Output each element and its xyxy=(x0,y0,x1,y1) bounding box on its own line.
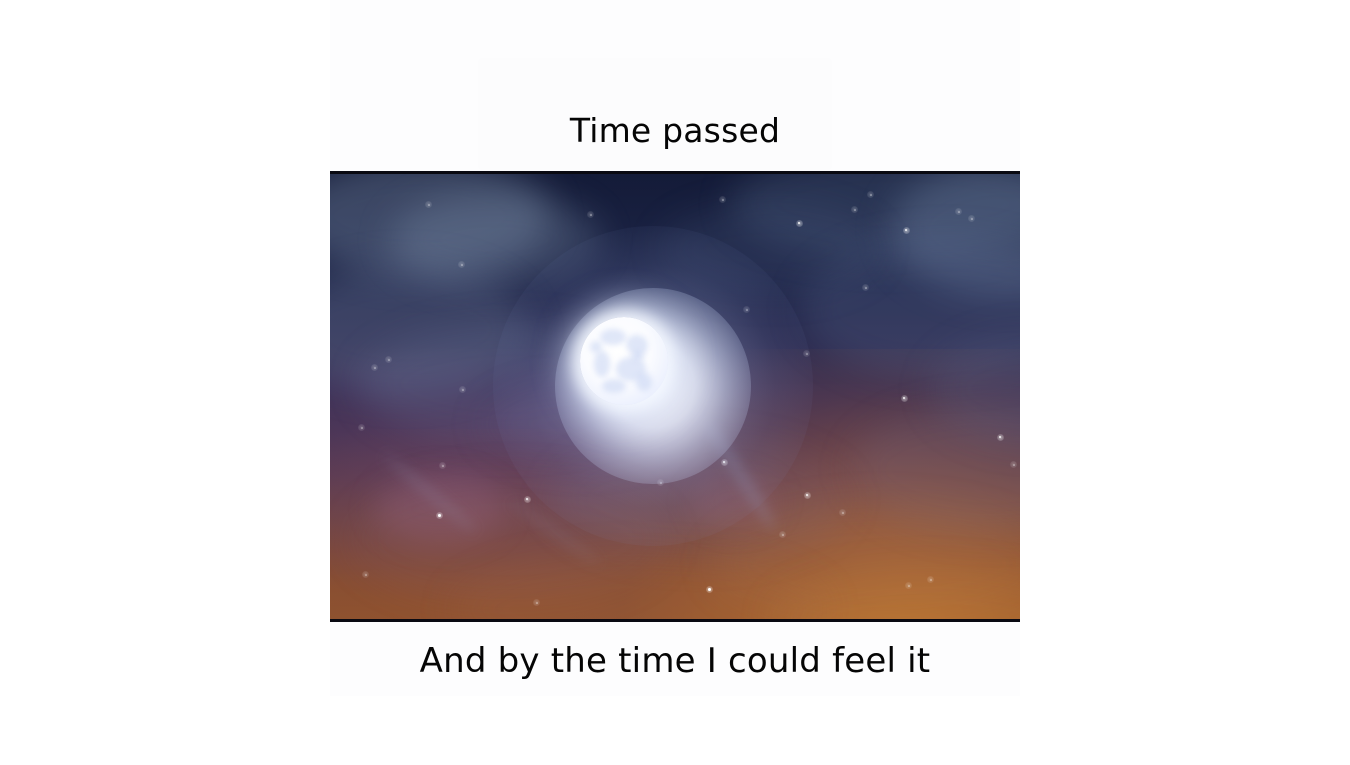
caption-bottom: And by the time I could feel it xyxy=(330,643,1020,680)
star xyxy=(461,264,463,266)
star xyxy=(438,514,441,517)
star xyxy=(722,199,724,201)
star xyxy=(782,534,784,536)
star xyxy=(798,222,800,224)
pink-cloud-puff xyxy=(375,474,505,544)
night-sky-image xyxy=(330,174,1020,619)
star xyxy=(842,512,844,514)
star xyxy=(971,218,973,220)
star xyxy=(442,465,444,467)
star xyxy=(806,494,808,496)
moon-crater xyxy=(636,373,652,391)
star xyxy=(908,585,910,587)
star xyxy=(536,602,538,604)
star xyxy=(958,211,960,213)
star xyxy=(526,498,528,500)
star xyxy=(365,574,367,576)
star xyxy=(361,427,363,429)
star xyxy=(870,194,872,196)
star xyxy=(999,436,1001,438)
moon-crater xyxy=(602,379,626,393)
star xyxy=(903,397,905,399)
star xyxy=(374,367,376,369)
star xyxy=(865,287,867,289)
moon-crater xyxy=(594,351,610,377)
moon-crater xyxy=(590,341,602,353)
star xyxy=(854,209,856,211)
star xyxy=(708,588,711,591)
star xyxy=(930,579,932,581)
caption-top: Time passed xyxy=(330,113,1020,149)
star xyxy=(905,229,907,231)
star xyxy=(462,389,464,391)
image-frame xyxy=(330,171,1020,622)
moon-crater xyxy=(600,329,626,345)
moon-icon xyxy=(580,317,668,405)
moon-crater xyxy=(632,351,644,361)
star xyxy=(1013,464,1015,466)
slide-canvas: Time passed xyxy=(0,0,1350,765)
star xyxy=(590,214,592,216)
star xyxy=(388,359,390,361)
star xyxy=(428,204,430,206)
